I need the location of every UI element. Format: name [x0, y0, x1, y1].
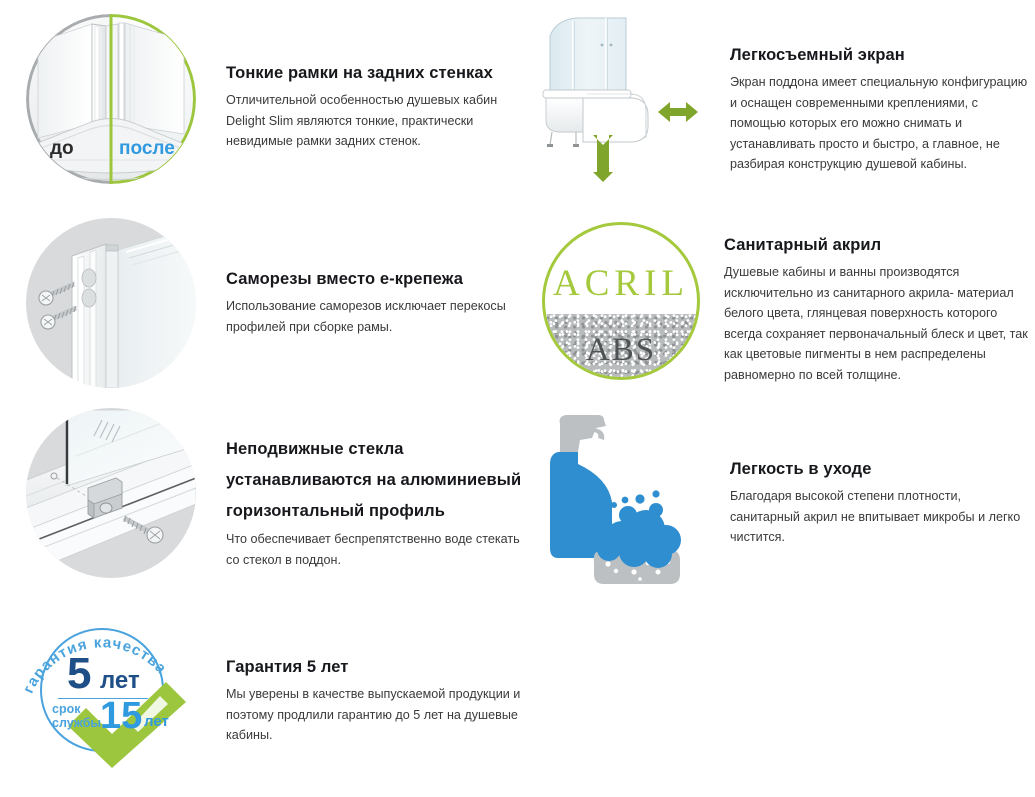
split-divider	[110, 14, 113, 184]
feature-body: Использование саморезов исключает переко…	[226, 296, 526, 337]
feature-text: Гарантия 5 лет Мы уверены в качестве вып…	[226, 614, 522, 746]
badge-years-number: 5	[67, 652, 91, 696]
feature-body: Благодаря высокой степени плотности, сан…	[730, 486, 1030, 548]
feature-text: Неподвижные стекла устанавливаются на ал…	[226, 408, 526, 570]
features-page: до после Тонкие рамки на задних стенках …	[0, 0, 1035, 797]
feature-text: Легкость в уходе Благодаря высокой степе…	[730, 406, 1030, 548]
feature-title: Неподвижные стекла устанавливаются на ал…	[226, 434, 526, 527]
badge-service-label-line1: срок	[52, 702, 80, 716]
feature-body: Душевые кабины и ванны производятся искл…	[724, 262, 1032, 385]
bathtub-screen-arrows-icon	[530, 14, 700, 189]
feature-text: Тонкие рамки на задних стенках Отличител…	[226, 14, 526, 152]
acril-abs-circle-icon: ACRIL ABS	[542, 222, 700, 380]
feature-body: Экран поддона имеет специальную конфигур…	[730, 72, 1030, 175]
feature-text: Санитарный акрил Душевые кабины и ванны …	[724, 222, 1032, 385]
screw-icon	[39, 282, 74, 305]
label-after: после	[119, 139, 175, 158]
feature-title: Саморезы вместо е-крепежа	[226, 266, 526, 292]
badge-service-label-line2: службы	[52, 716, 101, 730]
feature-title: Гарантия 5 лет	[226, 654, 522, 680]
feature-removable-screen: Легкосъемный экран Экран поддона имеет с…	[530, 14, 1030, 189]
screws-profile-circle-icon	[26, 218, 196, 388]
feature-self-tapping-screws: Саморезы вместо е-крепежа Использование …	[26, 218, 526, 388]
screw-icon	[41, 306, 76, 329]
feature-thin-frames: до после Тонкие рамки на задних стенках …	[26, 14, 526, 184]
badge-years-word: лет	[100, 669, 140, 693]
feature-title: Тонкие рамки на задних стенках	[226, 60, 526, 86]
feature-text: Легкосъемный экран Экран поддона имеет с…	[730, 14, 1030, 175]
bracket-illustration	[26, 408, 196, 578]
glass-bracket-screw-circle-icon	[26, 408, 196, 578]
feature-warranty: гарантия качества 5 лет срок службы 15 л…	[22, 614, 522, 774]
feature-body: Отличительной особенностью душевых кабин…	[226, 90, 526, 152]
feature-body: Мы уверены в качестве выпускаемой продук…	[226, 684, 522, 746]
feature-sanitary-acrylic: ACRIL ABS Санитарный акрил Душевые кабин…	[542, 222, 1032, 385]
feature-easy-care: Легкость в уходе Благодаря высокой степе…	[530, 406, 1030, 596]
spray-bottle-sponge-icon	[530, 406, 710, 596]
bathtub-illustration	[530, 14, 700, 189]
arrow-horizontal-icon	[658, 102, 698, 122]
quality-guarantee-badge-icon: гарантия качества 5 лет срок службы 15 л…	[22, 614, 192, 774]
feature-title: Санитарный акрил	[724, 232, 1032, 258]
feature-text: Саморезы вместо е-крепежа Использование …	[226, 218, 526, 337]
badge-service-number: 15	[100, 697, 142, 735]
label-before: до	[50, 139, 74, 158]
badge-service-word: лет	[144, 714, 169, 729]
feature-body: Что обеспечивает беспрепятственно воде с…	[226, 529, 526, 570]
screws-illustration	[26, 218, 196, 388]
before-after-circle-icon: до после	[26, 14, 196, 184]
badge-service-label: срок службы	[52, 702, 101, 730]
spray-bottle-illustration	[530, 406, 710, 596]
feature-title: Легкость в уходе	[730, 456, 1030, 482]
feature-title: Легкосъемный экран	[730, 42, 1030, 68]
abs-wordmark: ABS	[545, 334, 697, 367]
acril-wordmark: ACRIL	[545, 265, 697, 302]
feature-fixed-glass: Неподвижные стекла устанавливаются на ал…	[26, 408, 526, 578]
